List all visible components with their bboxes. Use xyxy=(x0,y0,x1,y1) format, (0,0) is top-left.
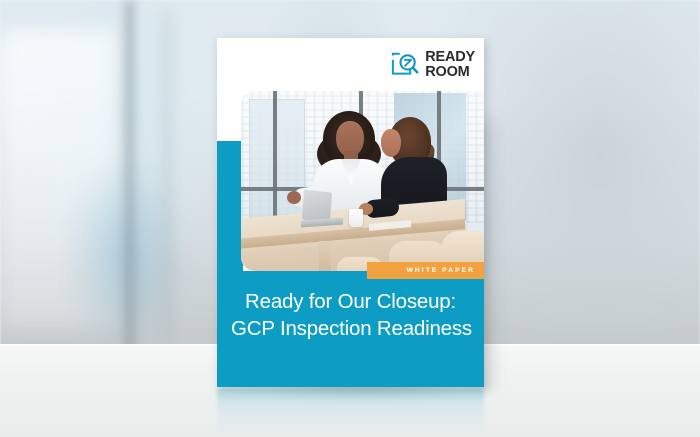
scene: READY ROOM xyxy=(0,0,700,437)
cover-header-band: READY ROOM xyxy=(217,38,484,91)
cover-title-line-2: GCP Inspection Readiness xyxy=(231,315,470,342)
photo-laptop-screen xyxy=(302,190,332,223)
background-pillar xyxy=(122,0,136,352)
cover-title-line-1: Ready for Our Closeup: xyxy=(231,288,470,315)
ready-room-logo: READY ROOM xyxy=(390,50,475,79)
white-paper-badge: WHITE PAPER xyxy=(367,262,484,279)
logo-wordmark: READY ROOM xyxy=(425,50,475,79)
logo-line-2: ROOM xyxy=(425,65,475,79)
white-paper-cover[interactable]: READY ROOM xyxy=(217,38,484,387)
background-pillar-secondary xyxy=(162,10,172,340)
cover-reflection xyxy=(217,388,484,434)
photo-woman-a-hand xyxy=(287,191,301,204)
photo-woman-b-face xyxy=(381,129,401,157)
logo-line-1: READY xyxy=(425,50,475,64)
cover-photo xyxy=(241,91,484,271)
cover-title: Ready for Our Closeup: GCP Inspection Re… xyxy=(217,288,484,342)
magnifier-document-icon xyxy=(390,52,420,78)
photo-table-leg xyxy=(319,241,331,271)
white-paper-badge-label: WHITE PAPER xyxy=(407,267,484,274)
photo-coffee-mug xyxy=(349,209,363,227)
